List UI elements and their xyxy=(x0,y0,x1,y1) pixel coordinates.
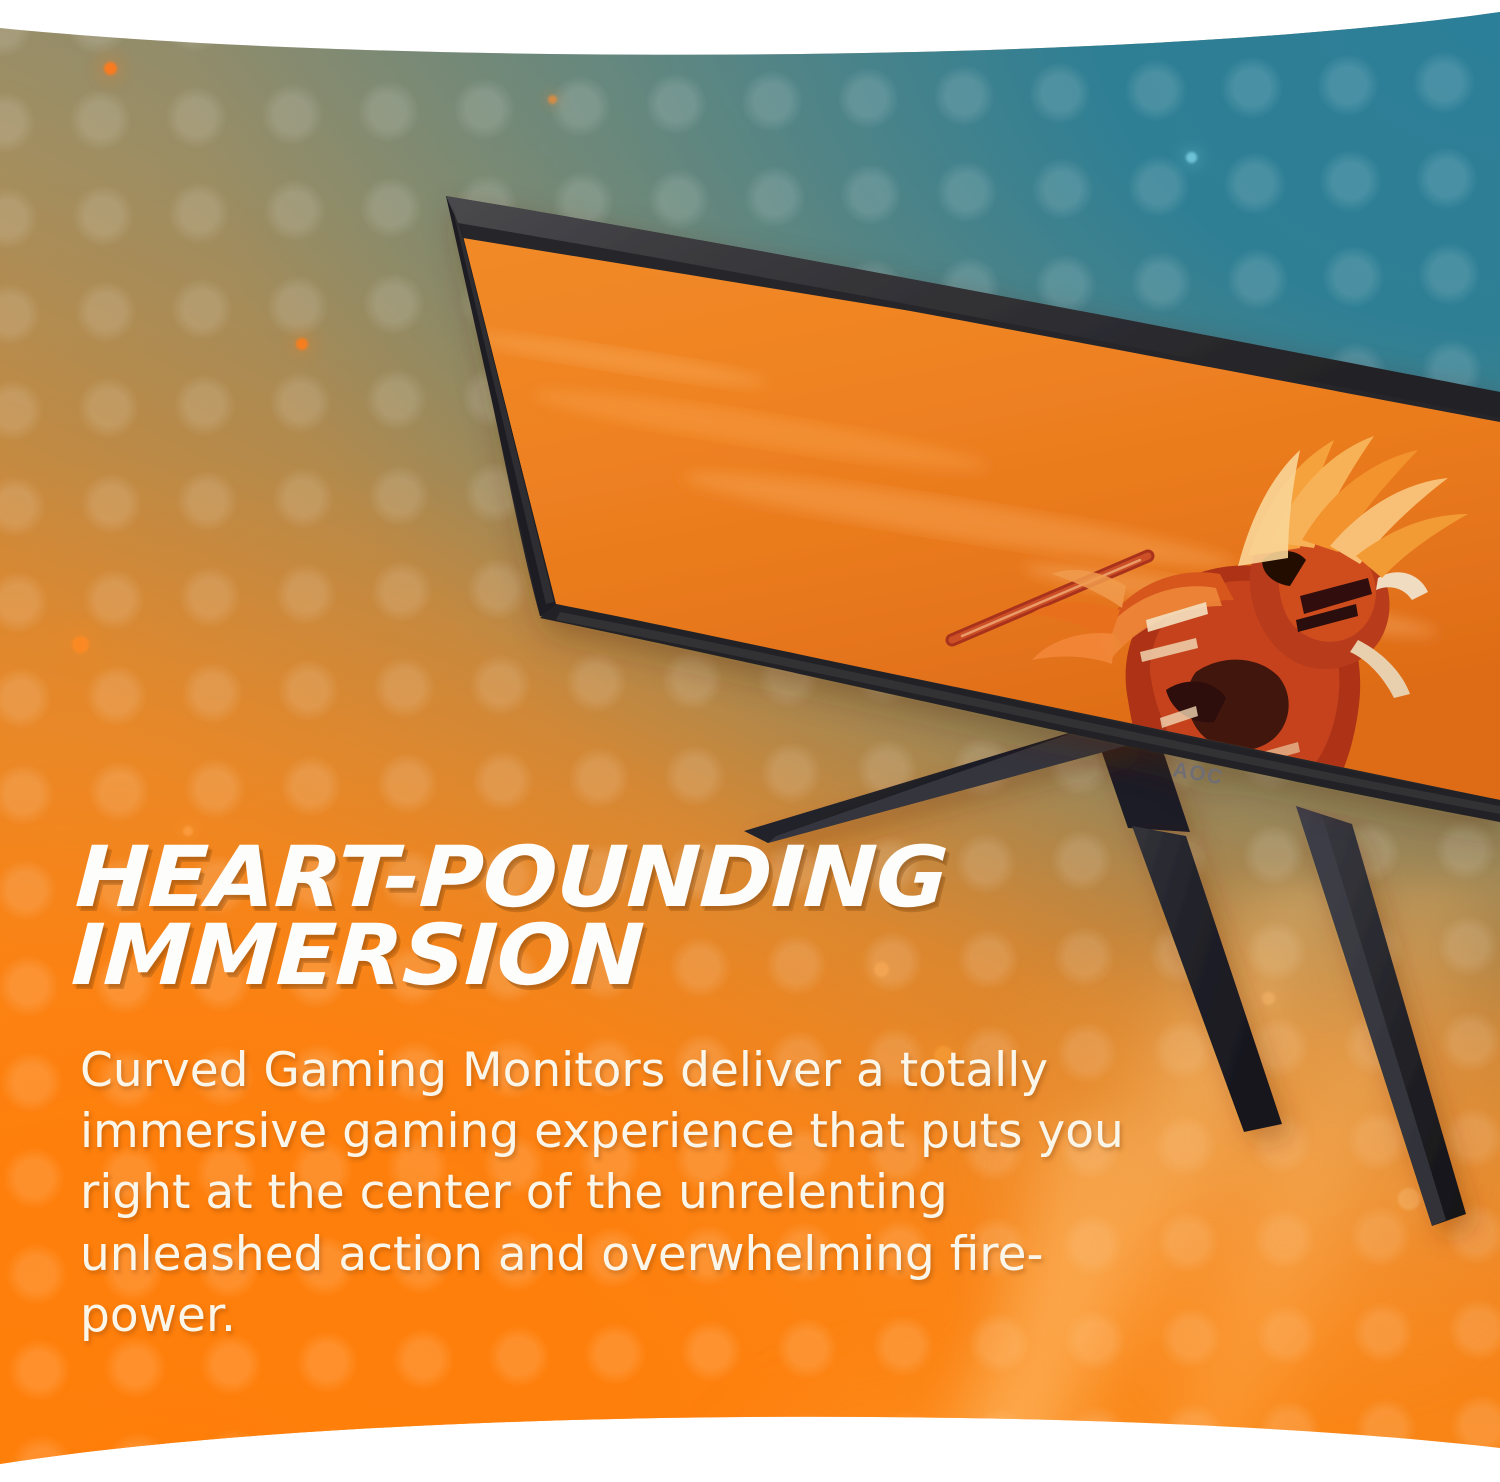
body-paragraph: Curved Gaming Monitors deliver a totally… xyxy=(80,1040,1165,1345)
promo-banner: AOC HEART-POUNDING IMMERSION Curved Gami… xyxy=(0,0,1500,1482)
copy-block: HEART-POUNDING IMMERSION Curved Gaming M… xyxy=(78,838,1198,1346)
tilted-content-plate: AOC HEART-POUNDING IMMERSION Curved Gami… xyxy=(0,0,1500,1482)
page-title: HEART-POUNDING IMMERSION xyxy=(70,838,1243,994)
